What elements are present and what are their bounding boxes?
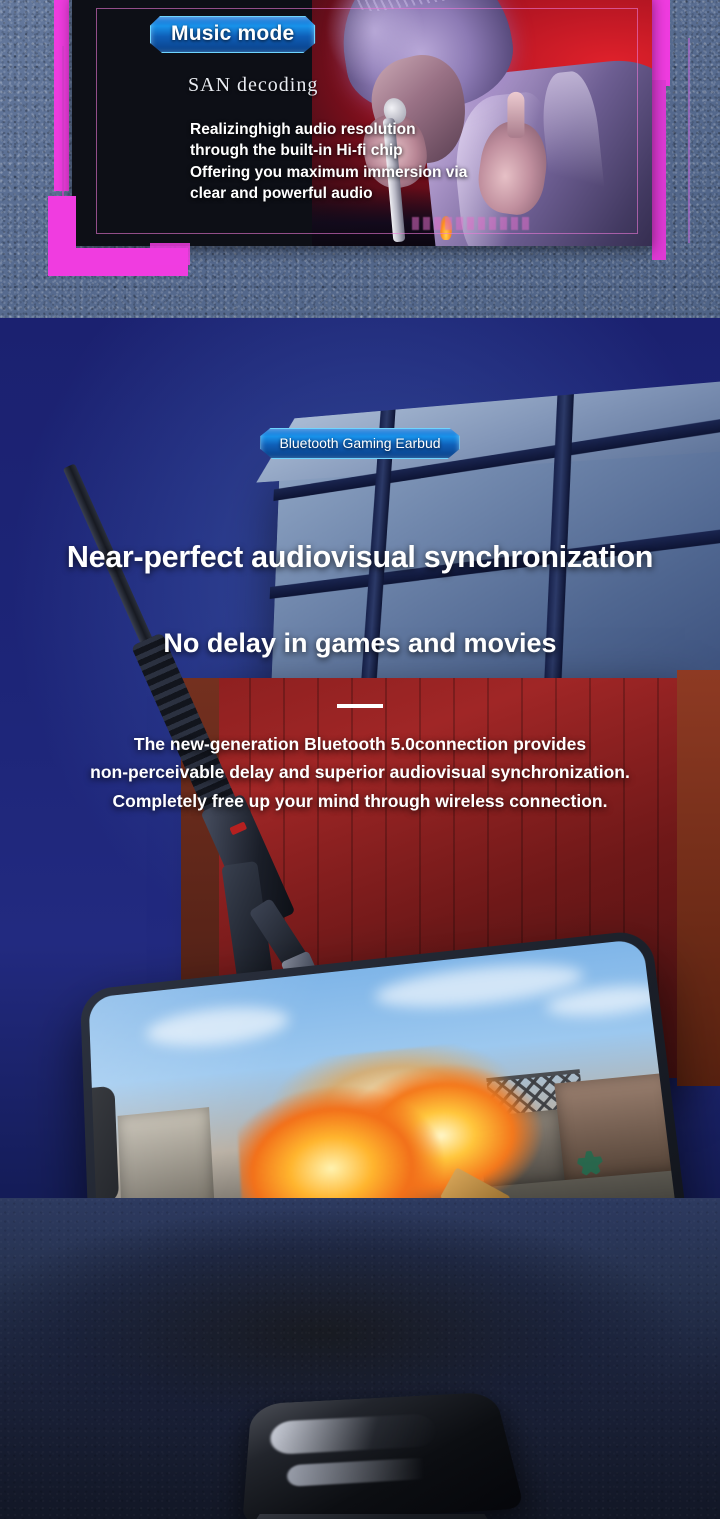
music-text-block: Music mode SAN decoding Realizinghigh au… — [72, 0, 652, 246]
gaming-subheadline: No delay in games and movies — [0, 628, 720, 659]
bluetooth-gaming-earbud-badge: Bluetooth Gaming Earbud — [260, 428, 459, 459]
music-description: Realizinghigh audio resolution through t… — [190, 119, 590, 205]
san-decoding-label: SAN decoding — [188, 74, 318, 97]
music-description-line: Offering you maximum immersion via — [190, 162, 590, 183]
music-mode-badge: Music mode — [150, 16, 315, 53]
gaming-headline: Near-perfect audiovisual synchronization — [0, 540, 720, 575]
gaming-paragraph-line: Completely free up your mind through wir… — [0, 787, 720, 815]
charging-case: 100 — [196, 1506, 556, 1519]
charging-case-lid — [242, 1392, 524, 1519]
gaming-paragraph-line: The new-generation Bluetooth 5.0connecti… — [0, 730, 720, 758]
music-mode-card: Music mode SAN decoding Realizinghigh au… — [72, 0, 652, 246]
bluetooth-badge-container: Bluetooth Gaming Earbud — [0, 428, 720, 459]
music-description-line: Realizinghigh audio resolution — [190, 119, 590, 140]
magenta-bar-right — [652, 80, 666, 260]
music-mode-panel: Music mode SAN decoding Realizinghigh au… — [0, 0, 720, 318]
charging-case-body: 100 — [216, 1514, 528, 1519]
gaming-paragraph: The new-generation Bluetooth 5.0connecti… — [0, 730, 720, 815]
magenta-thin-line-right — [688, 38, 690, 243]
cloud — [145, 1001, 290, 1052]
gaming-panel: Bluetooth Gaming Earbud Near-perfect aud… — [0, 318, 720, 1519]
magenta-thin-line-left — [62, 46, 64, 216]
music-description-line: through the built-in Hi-fi chip — [190, 140, 590, 161]
heading-divider — [337, 704, 383, 708]
phone-notch — [90, 1086, 119, 1204]
music-description-line: clear and powerful audio — [190, 183, 590, 204]
magenta-corner-tab — [150, 243, 190, 265]
gaming-paragraph-line: non-perceivable delay and superior audio… — [0, 758, 720, 786]
